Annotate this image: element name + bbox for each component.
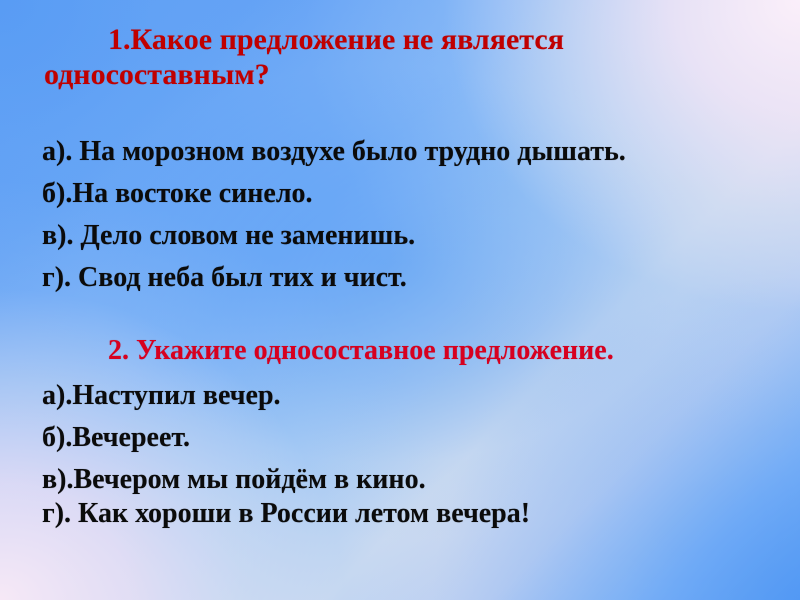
presentation-slide: 1.Какое предложение не является односост… (0, 0, 800, 600)
question-2-option-a[interactable]: а).Наступил вечер. (42, 382, 772, 410)
question-1-heading: 1.Какое предложение не является односост… (44, 22, 756, 93)
question-1-option-b[interactable]: б).На востоке синело. (42, 180, 772, 208)
slide-content: 1.Какое предложение не является односост… (0, 0, 800, 600)
question-2-heading: 2. Укажите односоставное предложение. (44, 334, 756, 367)
question-1-option-a[interactable]: а). На морозном воздухе было трудно дыша… (42, 138, 772, 166)
question-2-option-g[interactable]: г). Как хороши в России летом вечера! (42, 500, 772, 528)
question-1-option-v[interactable]: в). Дело словом не заменишь. (42, 222, 772, 250)
question-2-option-v[interactable]: в).Вечером мы пойдём в кино. (42, 466, 772, 494)
question-1-option-g[interactable]: г). Свод неба был тих и чист. (42, 264, 772, 292)
question-2-option-b[interactable]: б).Вечереет. (42, 424, 772, 452)
